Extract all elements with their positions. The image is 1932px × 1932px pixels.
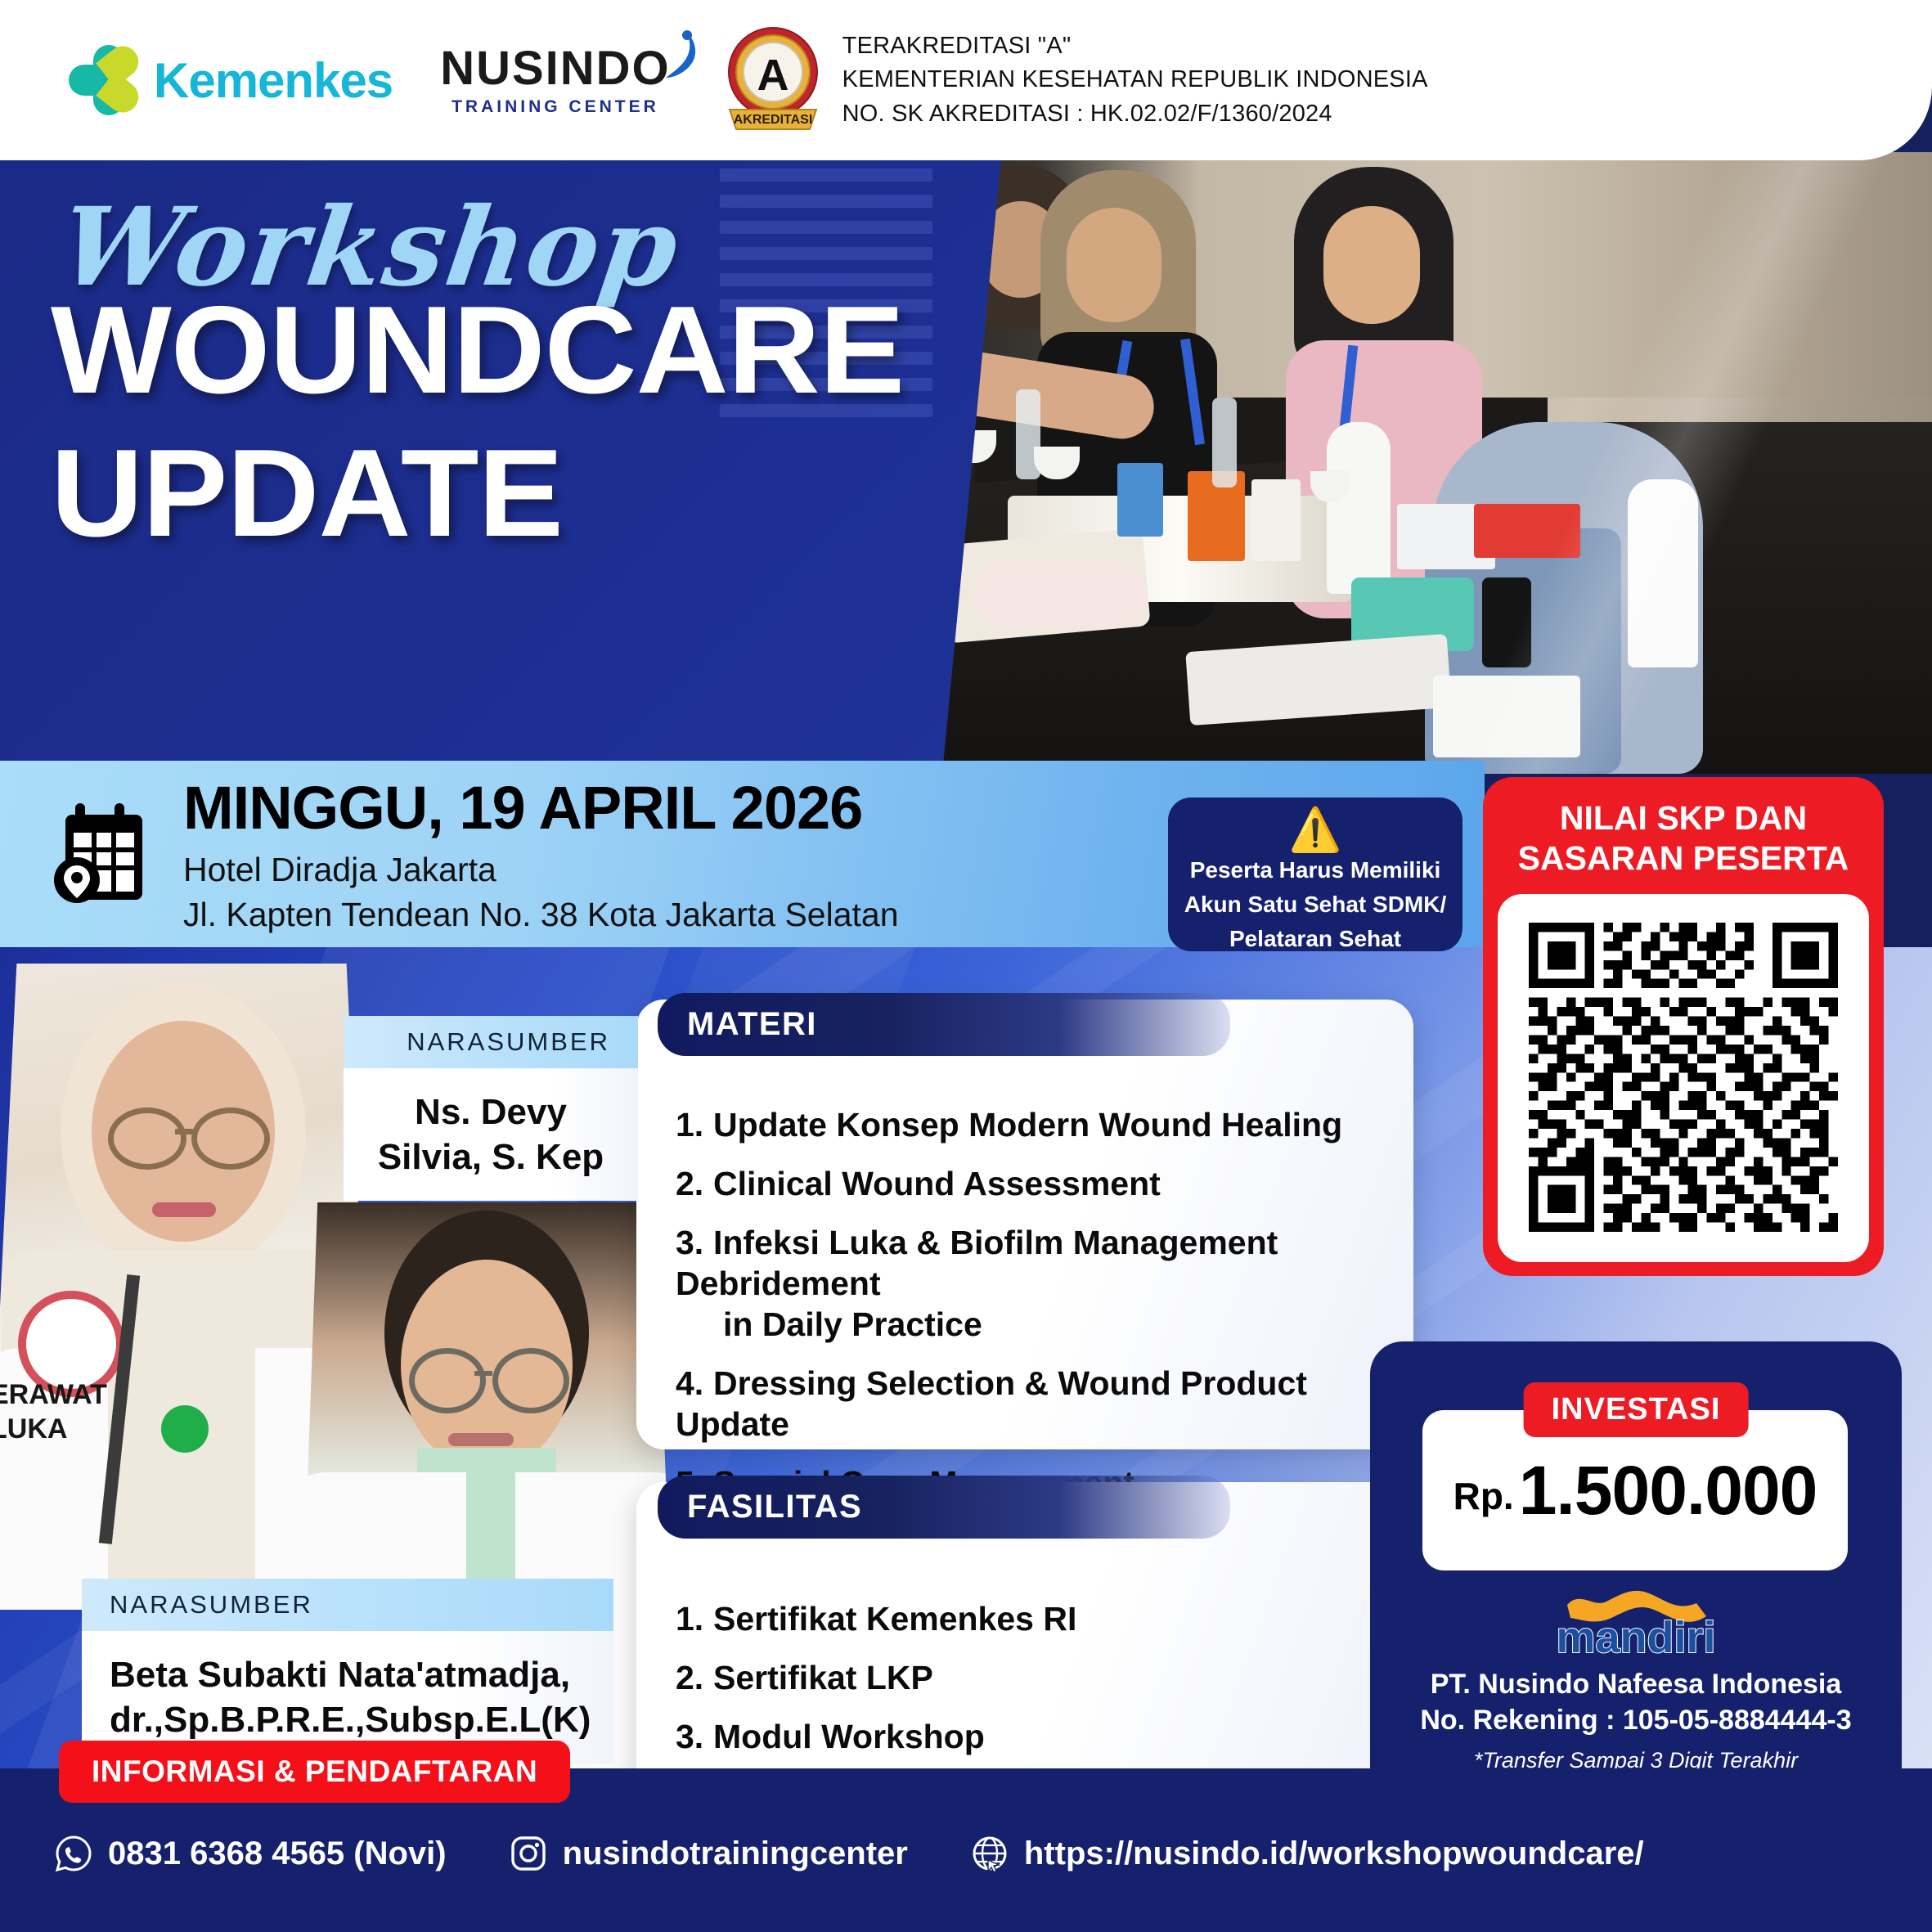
header-bar: Kemenkes NUSINDO TRAINING CENTER — [0, 0, 1932, 160]
speaker-1-caption: NARASUMBER — [344, 1016, 638, 1068]
instagram-icon — [509, 1834, 548, 1873]
footer-bar: INFORMASI & PENDAFTARAN 0831 6368 4565 (… — [0, 1768, 1932, 1932]
event-venue: Hotel Diradja Jakarta — [183, 851, 899, 888]
qr-panel[interactable]: NILAI SKP DAN SASARAN PESERTA — [1483, 777, 1884, 1276]
qr-title-line-1: NILAI SKP DAN — [1491, 798, 1876, 838]
website-contact[interactable]: https://nusindo.id/workshopwoundcare/ — [970, 1834, 1644, 1873]
materi-heading: MATERI — [658, 993, 1230, 1056]
fasilitas-heading: FASILITAS — [658, 1476, 1230, 1539]
nusindo-logo: NUSINDO TRAINING CENTER — [440, 45, 670, 115]
prerequisite-line-3: Pelataran Sehat — [1168, 923, 1462, 955]
materi-num-4: 4. — [676, 1363, 713, 1404]
list-item: 2.Clinical Wound Assessment — [676, 1163, 1374, 1204]
materi-card: MATERI 1.Update Konsep Modern Wound Heal… — [636, 1000, 1413, 1449]
nusindo-subtitle: TRAINING CENTER — [440, 98, 670, 115]
qr-title-line-2: SASARAN PESERTA — [1491, 838, 1876, 878]
fasilitas-text-2: Sertifikat LKP — [713, 1659, 933, 1696]
kemenkes-wordmark: Kemenkes — [154, 52, 393, 109]
prerequisite-line-2: Akun Satu Sehat SDMK/ — [1168, 889, 1462, 920]
whatsapp-icon — [54, 1834, 93, 1873]
prerequisite-line-1: Peserta Harus Memiliki — [1168, 855, 1462, 886]
mandiri-bank-logo: mandiri — [1513, 1584, 1759, 1659]
account-name: PT. Nusindo Nafeesa Indonesia — [1370, 1667, 1902, 1703]
materi-text-3-cont: in Daily Practice — [676, 1304, 1374, 1345]
materi-num-1: 1. — [676, 1104, 713, 1145]
fasilitas-num-1: 1. — [676, 1598, 713, 1639]
globe-icon — [970, 1834, 1009, 1873]
website-url: https://nusindo.id/workshopwoundcare/ — [1024, 1835, 1644, 1872]
accreditation-line-3: NO. SK AKREDITASI : HK.02.02/F/1360/2024 — [842, 97, 1428, 131]
list-item: 1.Update Konsep Modern Wound Healing — [676, 1104, 1374, 1145]
info-registration-pill[interactable]: INFORMASI & PENDAFTARAN — [59, 1741, 570, 1803]
accreditation-line-1: TERAKREDITASI "A" — [842, 29, 1428, 63]
whatsapp-number: 0831 6368 4565 (Novi) — [108, 1835, 447, 1872]
investment-badge: INVESTASI — [1524, 1382, 1749, 1437]
event-date: MINGGU, 19 APRIL 2026 — [183, 775, 899, 841]
speaker-2-name-line-1: Beta Subakti Nata'atmadja, — [110, 1652, 586, 1697]
kemenkes-logo: Kemenkes — [69, 45, 393, 115]
poster-title: Workshop WOUNDCARE UPDATE — [51, 184, 934, 555]
list-item: 1.Sertifikat Kemenkes RI — [676, 1598, 1374, 1639]
price-currency: Rp. — [1453, 1462, 1514, 1518]
fasilitas-num-2: 2. — [676, 1657, 713, 1698]
instagram-contact[interactable]: nusindotrainingcenter — [509, 1834, 908, 1873]
calendar-location-icon — [51, 800, 155, 908]
svg-text:mandiri: mandiri — [1556, 1613, 1715, 1659]
materi-text-3: Infeksi Luka & Biofilm Management Debrid… — [676, 1224, 1278, 1302]
svg-text:AKREDITASI: AKREDITASI — [733, 113, 812, 127]
accreditation-block: A AKREDITASI TERAKREDITASI "A" KEMENTERI… — [721, 25, 1428, 136]
event-address: Jl. Kapten Tendean No. 38 Kota Jakarta S… — [183, 896, 899, 933]
workshop-photo — [942, 152, 1932, 774]
accreditation-line-2: KEMENTERIAN KESEHATAN REPUBLIK INDONESIA — [842, 63, 1428, 97]
nusindo-wordmark: NUSINDO — [440, 42, 670, 95]
accreditation-badge-icon: A AKREDITASI — [721, 25, 824, 136]
fasilitas-text-3: Modul Workshop — [713, 1718, 985, 1755]
materi-text-1: Update Konsep Modern Wound Healing — [713, 1106, 1342, 1143]
poster-root: Kemenkes NUSINDO TRAINING CENTER — [0, 0, 1932, 1932]
materi-text-2: Clinical Wound Assessment — [713, 1165, 1161, 1202]
list-item: 2.Sertifikat LKP — [676, 1657, 1374, 1698]
materi-text-4: Dressing Selection & Wound Product Updat… — [676, 1364, 1307, 1443]
materi-num-2: 2. — [676, 1163, 713, 1204]
fasilitas-text-1: Sertifikat Kemenkes RI — [713, 1600, 1076, 1638]
nusindo-swoosh-icon — [661, 30, 699, 84]
instagram-handle: nusindotrainingcenter — [563, 1835, 908, 1872]
svg-text:A: A — [757, 51, 789, 100]
materi-num-3: 3. — [676, 1222, 713, 1263]
account-number: No. Rekening : 105-05-8884444-3 — [1370, 1703, 1902, 1739]
qr-code-icon[interactable] — [1529, 915, 1838, 1239]
prerequisite-notice: ⚠️ Peserta Harus Memiliki Akun Satu Seha… — [1168, 798, 1462, 951]
speaker-label-2: NARASUMBER Beta Subakti Nata'atmadja, dr… — [82, 1579, 613, 1764]
fasilitas-num-3: 3. — [676, 1716, 713, 1757]
title-line-2: UPDATE — [51, 433, 960, 555]
speaker-label-1: NARASUMBER Ns. Devy Silvia, S. Kep — [344, 1016, 638, 1201]
investment-panel: INVESTASI Rp. 1.500.000 mandiri PT. Nusi… — [1370, 1341, 1902, 1824]
speaker-2-caption: NARASUMBER — [82, 1579, 613, 1631]
warning-triangle-icon: ⚠️ — [1168, 809, 1462, 851]
list-item: 3.Infeksi Luka & Biofilm Management Debr… — [676, 1222, 1374, 1345]
title-line-1: WOUNDCARE — [51, 290, 960, 411]
kemenkes-flower-icon — [69, 45, 139, 115]
whatsapp-contact[interactable]: 0831 6368 4565 (Novi) — [54, 1834, 447, 1873]
list-item: 3.Modul Workshop — [676, 1716, 1374, 1757]
price-amount: 1.500.000 — [1519, 1451, 1817, 1530]
speaker-1-name: Ns. Devy Silvia, S. Kep — [344, 1068, 638, 1201]
fasilitas-card: FASILITAS 1.Sertifikat Kemenkes RI 2.Ser… — [636, 1482, 1413, 1817]
list-item: 4.Dressing Selection & Wound Product Upd… — [676, 1363, 1374, 1445]
speaker-2-name-line-2: dr.,Sp.B.P.R.E.,Subsp.E.L(K) — [110, 1697, 586, 1742]
